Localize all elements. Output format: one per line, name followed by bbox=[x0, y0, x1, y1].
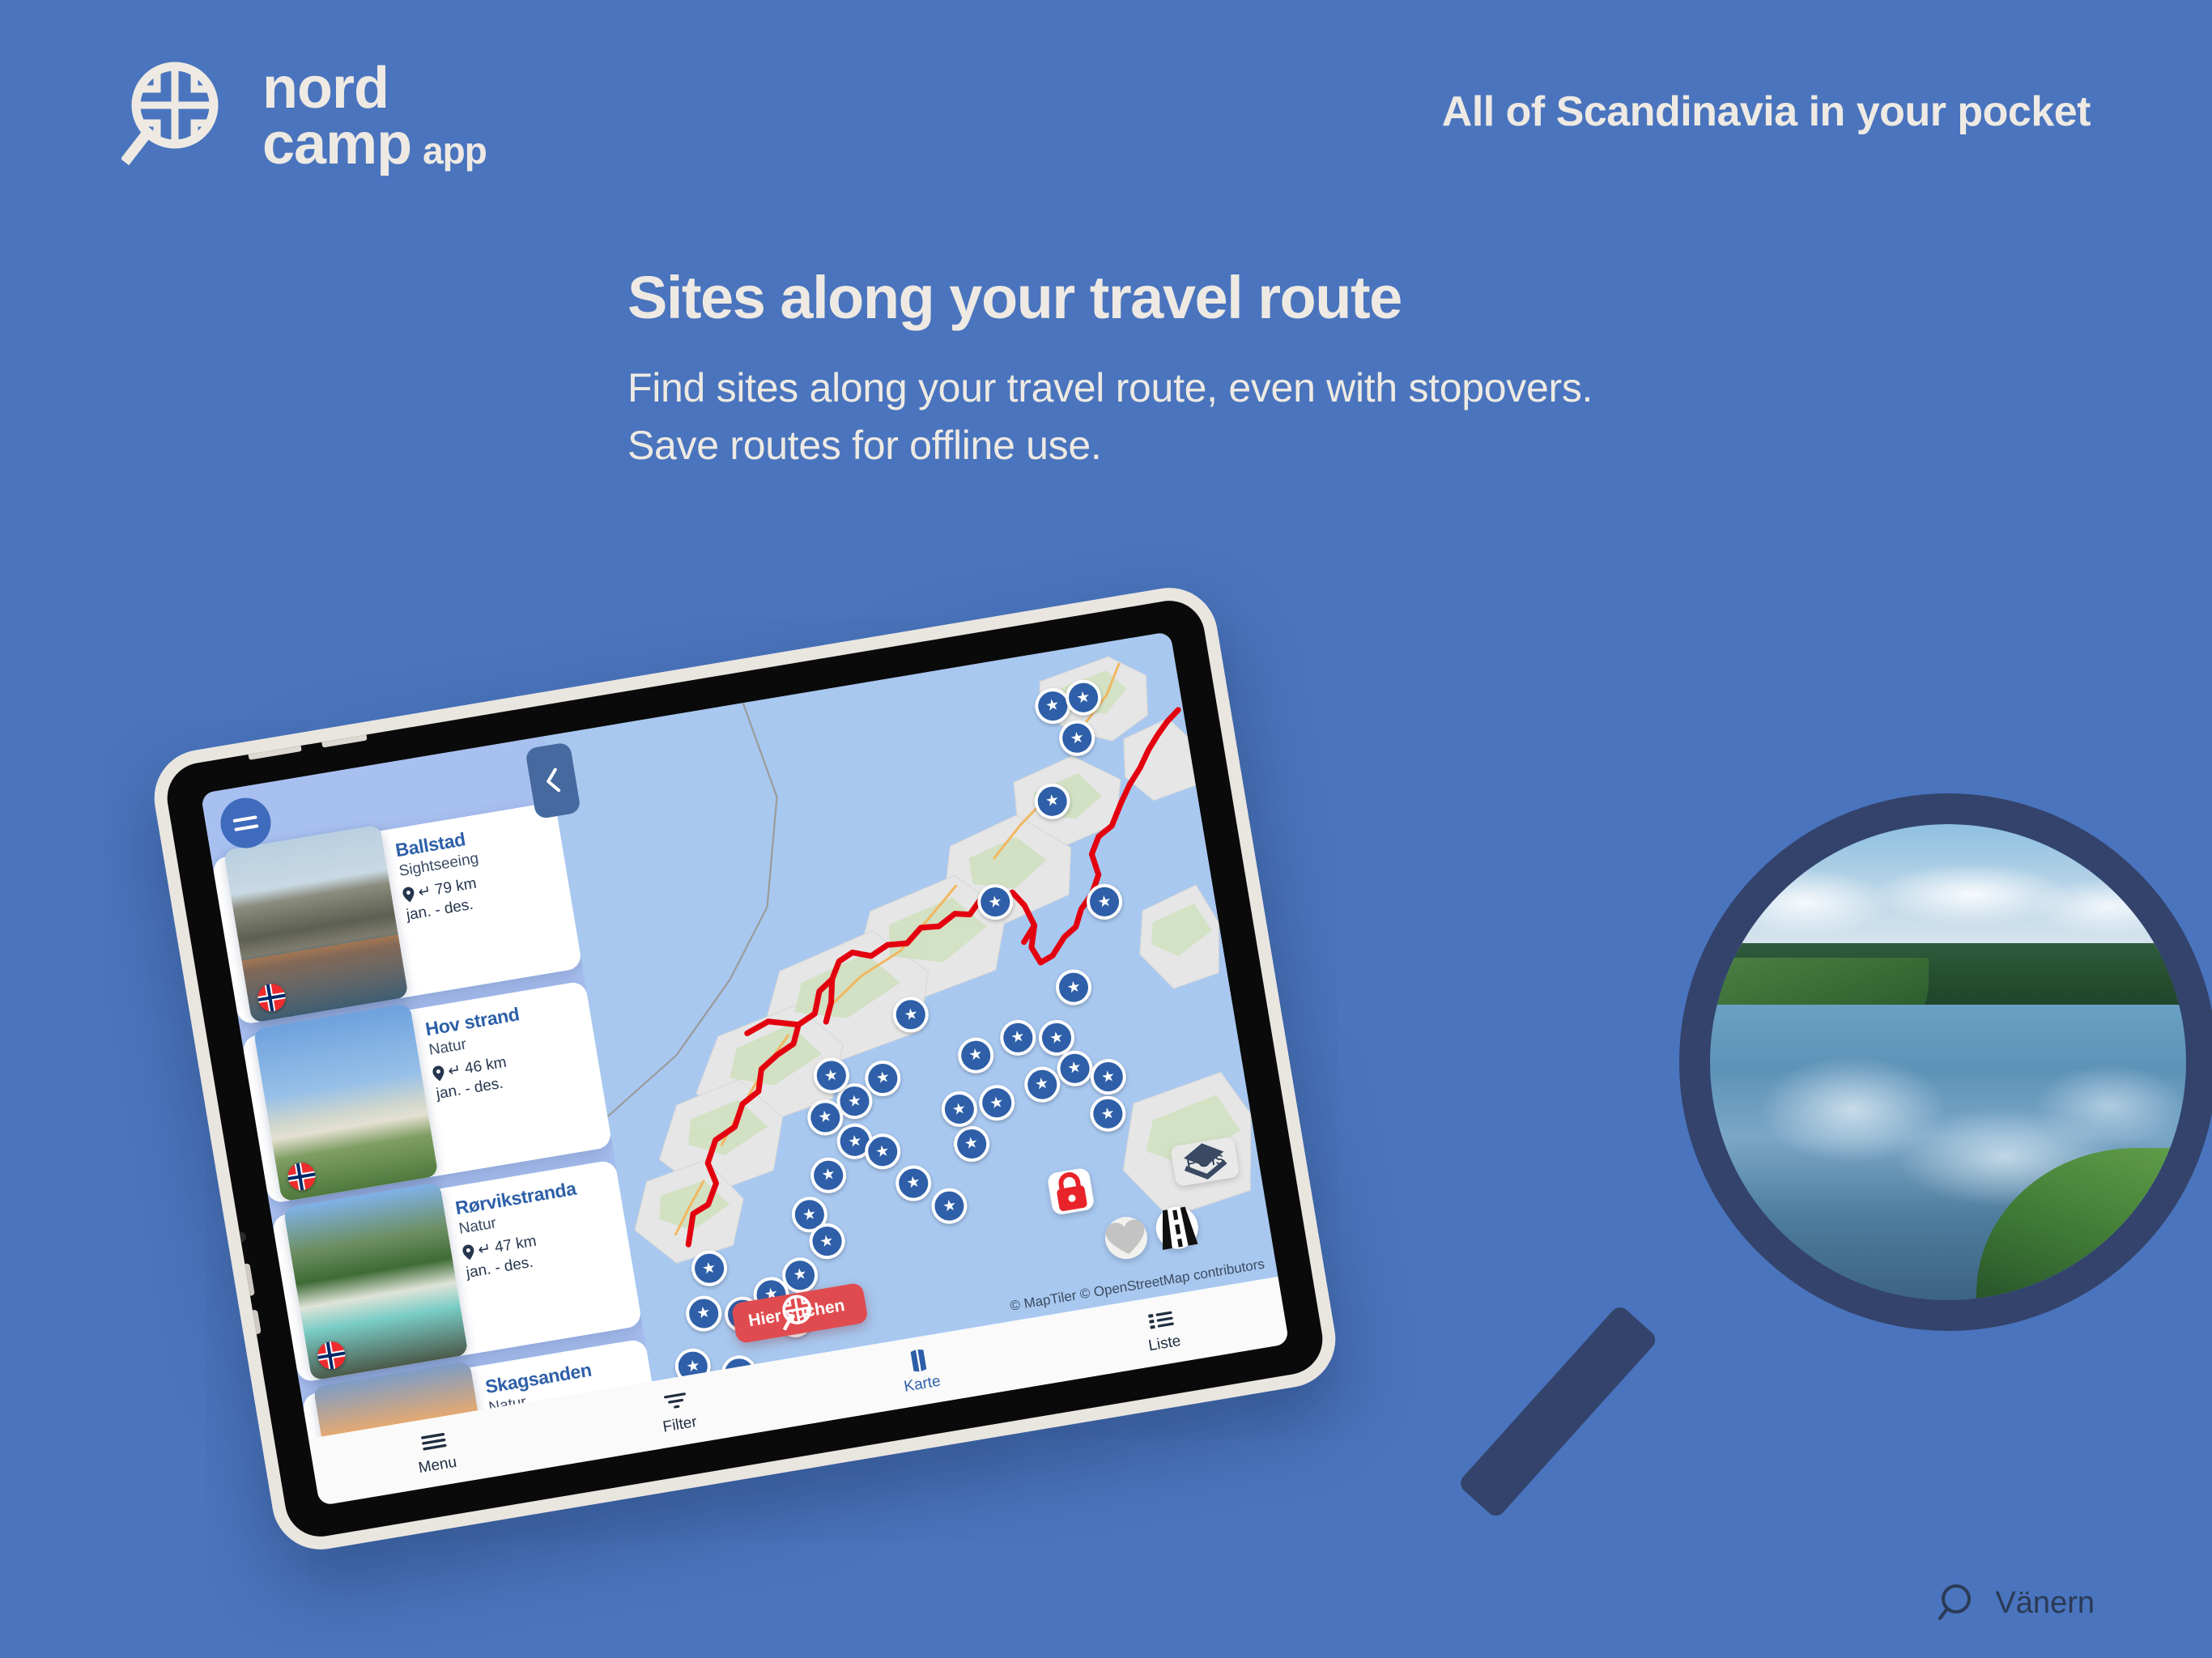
lock-button[interactable] bbox=[1047, 1167, 1095, 1216]
tablet-frame: Ballstad Sightseeing ↵ 79 km jan. - des. bbox=[147, 580, 1343, 1557]
page-subtitle: Find sites along your travel route, even… bbox=[627, 359, 1640, 474]
magnifier-handle bbox=[1457, 1303, 1659, 1520]
lock-closed-icon bbox=[1047, 1167, 1095, 1216]
map-pin-icon bbox=[402, 886, 415, 903]
brand-word-nord: nord bbox=[262, 61, 389, 117]
tablet-mockup: Ballstad Sightseeing ↵ 79 km jan. - des. bbox=[147, 580, 1343, 1557]
list-icon bbox=[1146, 1306, 1176, 1334]
map-pin-icon bbox=[462, 1243, 475, 1261]
tablet-camera-icon bbox=[235, 1231, 247, 1243]
site-thumbnail bbox=[283, 1182, 469, 1380]
brand-word-camp: camp bbox=[262, 117, 411, 172]
brand-logo[interactable]: nord camp app bbox=[121, 57, 487, 176]
hamburger-icon bbox=[232, 815, 258, 831]
tablet-power-button bbox=[248, 741, 302, 760]
aerial-lake-forest-photo bbox=[1710, 824, 2186, 1300]
nav-label: Karte bbox=[903, 1373, 942, 1397]
brand-wordmark: nord camp app bbox=[262, 61, 487, 172]
heart-icon bbox=[1102, 1214, 1151, 1262]
magnifier-photo-graphic bbox=[1611, 793, 2212, 1554]
tagline: All of Scandinavia in your pocket bbox=[1442, 87, 2091, 136]
site-thumbnail bbox=[223, 824, 409, 1022]
vanern-search-label[interactable]: Vänern bbox=[1938, 1582, 2095, 1624]
map-icon bbox=[907, 1347, 930, 1375]
favourites-button[interactable] bbox=[1102, 1214, 1151, 1262]
filter-icon bbox=[662, 1387, 691, 1415]
map-pin-icon bbox=[432, 1065, 445, 1082]
magnifier-ring bbox=[1679, 793, 2212, 1331]
page-title: Sites along your travel route bbox=[627, 263, 1640, 332]
road-icon bbox=[1153, 1204, 1202, 1252]
layers-icon bbox=[1170, 1137, 1240, 1187]
brand-word-app: app bbox=[423, 133, 487, 168]
site-thumbnail bbox=[253, 1003, 439, 1201]
hero-text-block: Sites along your travel route Find sites… bbox=[627, 263, 1640, 474]
distance-arrow-icon: ↵ bbox=[447, 1061, 462, 1081]
vanern-label: Vänern bbox=[1995, 1586, 2095, 1621]
pois-layer-button[interactable]: POIs bbox=[1170, 1137, 1240, 1187]
chevron-left-icon bbox=[542, 766, 564, 796]
tablet-volume-button bbox=[321, 730, 367, 748]
app-screen: Ballstad Sightseeing ↵ 79 km jan. - des. bbox=[201, 631, 1290, 1506]
magnifier-icon bbox=[1938, 1582, 1980, 1624]
route-button[interactable] bbox=[1153, 1204, 1202, 1252]
distance-arrow-icon: ↵ bbox=[417, 882, 432, 902]
hamburger-icon bbox=[419, 1427, 449, 1456]
distance-arrow-icon: ↵ bbox=[477, 1239, 492, 1260]
nav-label: Liste bbox=[1147, 1333, 1182, 1355]
nav-label: Filter bbox=[661, 1414, 698, 1437]
tablet-side-button-a bbox=[238, 1263, 254, 1297]
nav-label: Menu bbox=[417, 1454, 458, 1478]
nordcamp-magnifier-logo-icon bbox=[121, 57, 241, 176]
tablet-side-button-b bbox=[246, 1309, 262, 1335]
